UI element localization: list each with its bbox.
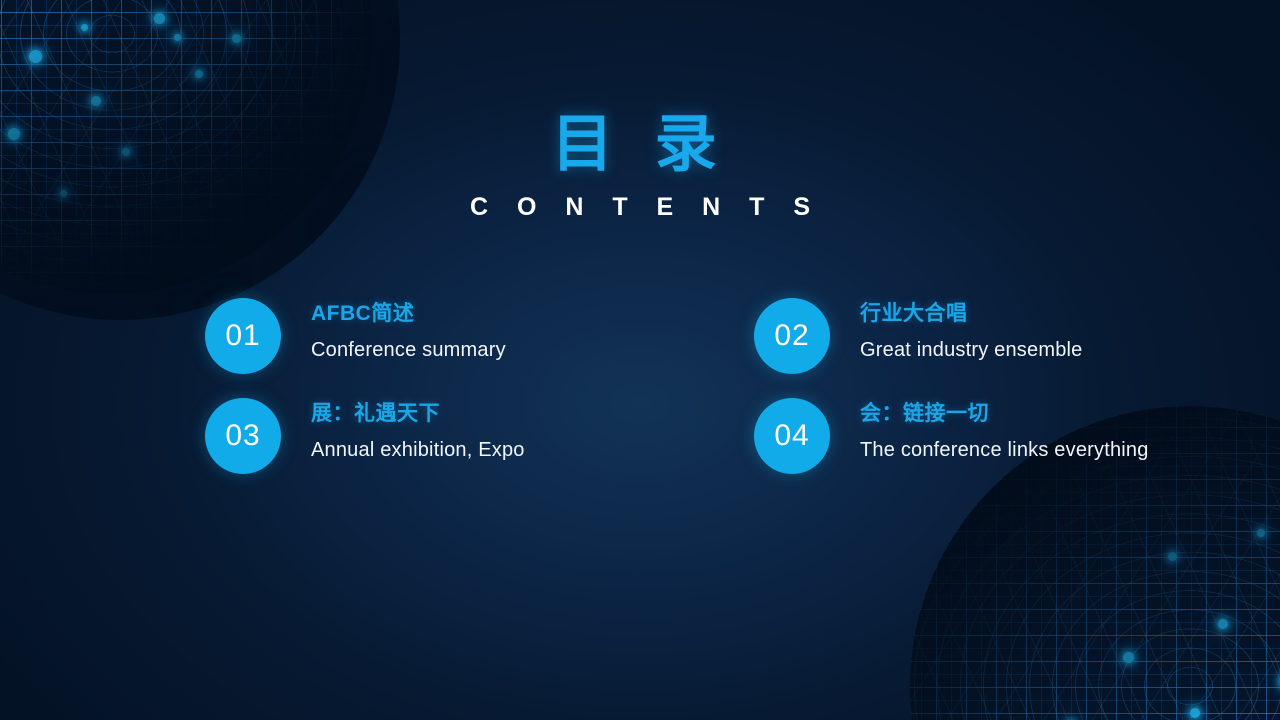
item-title: AFBC简述 [311,301,506,327]
item-text-block: 展：礼遇天下 Annual exhibition, Expo [281,398,525,462]
item-subtitle: Conference summary [311,338,506,362]
item-number: 03 [225,419,260,453]
globe-node [91,96,101,106]
item-subtitle: Great industry ensemble [860,338,1082,362]
presentation-slide: 目 录 C O N T E N T S 01 AFBC简述 Conference… [0,0,1280,720]
slide-header: 目 录 C O N T E N T S [0,112,1280,222]
item-subtitle: Annual exhibition, Expo [311,438,525,462]
contents-item-03[interactable]: 03 展：礼遇天下 Annual exhibition, Expo [205,398,754,498]
item-text-block: AFBC简述 Conference summary [281,298,506,362]
globe-node [1168,552,1177,561]
globe-node [174,34,181,41]
item-number: 01 [225,319,260,353]
contents-item-02[interactable]: 02 行业大合唱 Great industry ensemble [754,298,1205,398]
item-number-badge: 03 [205,398,281,474]
globe-node [29,50,42,63]
item-title: 会：链接一切 [860,401,1149,427]
item-number: 04 [774,419,809,453]
item-subtitle: The conference links everything [860,438,1149,462]
globe-node [195,70,203,78]
item-number-badge: 02 [754,298,830,374]
item-text-block: 行业大合唱 Great industry ensemble [830,298,1082,362]
page-title: 目 录 [0,112,1280,177]
globe-node [1218,619,1228,629]
item-number: 02 [774,319,809,353]
contents-item-01[interactable]: 01 AFBC简述 Conference summary [205,298,754,398]
item-number-badge: 04 [754,398,830,474]
globe-node [1123,652,1134,663]
contents-item-04[interactable]: 04 会：链接一切 The conference links everythin… [754,398,1205,498]
globe-node [1190,708,1200,718]
globe-node [154,13,165,24]
item-title: 展：礼遇天下 [311,401,525,427]
item-title: 行业大合唱 [860,301,1082,327]
globe-node [1257,529,1265,537]
globe-node [232,34,241,43]
globe-node [81,24,88,31]
page-subtitle: C O N T E N T S [0,193,1280,222]
item-number-badge: 01 [205,298,281,374]
item-text-block: 会：链接一切 The conference links everything [830,398,1149,462]
contents-list: 01 AFBC简述 Conference summary 02 行业大合唱 Gr… [205,298,1205,498]
